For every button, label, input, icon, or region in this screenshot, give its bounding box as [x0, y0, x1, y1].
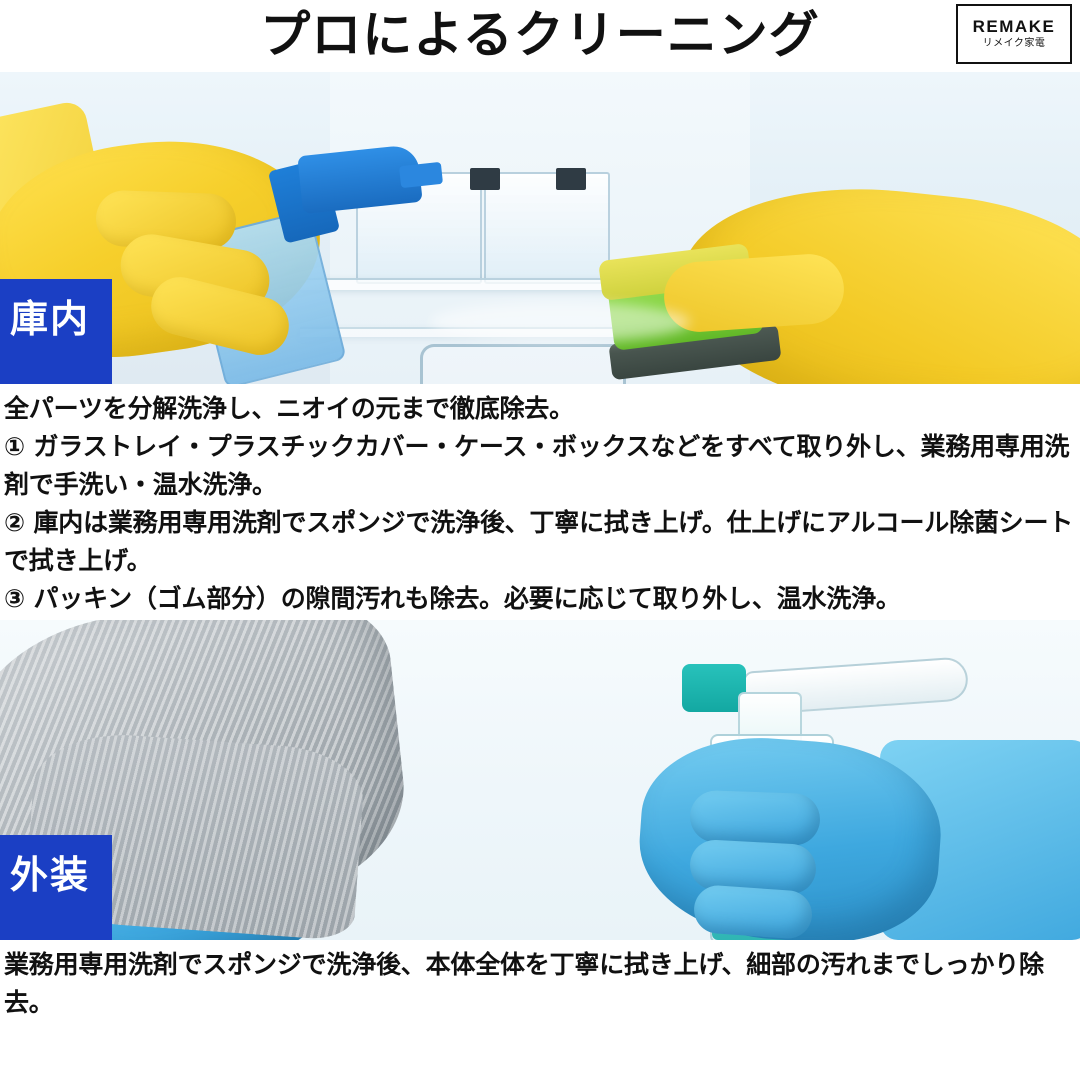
brand-logo-name: REMAKE [973, 17, 1056, 37]
fridge-vent-right [556, 168, 586, 190]
fridge-vent-left [470, 168, 500, 190]
section-1-photo: 庫内 [0, 72, 1080, 384]
fridge-interior-illustration [0, 72, 1080, 384]
shelf-glare [430, 302, 690, 342]
section-1-paragraph-0: 全パーツを分解洗浄し、ニオイの元まで徹底除去。 [4, 390, 1076, 428]
fridge-drawer-right [484, 172, 610, 284]
brand-logo: REMAKE リメイク家電 [956, 4, 1072, 64]
promo-page: プロによるクリーニング REMAKE リメイク家電 [0, 0, 1080, 1080]
section-2-badge: 外装 [0, 835, 112, 940]
section-2-paragraph-0: 業務用専用洗剤でスポンジで洗浄後、本体全体を丁寧に拭き上げ、細部の汚れまでしっか… [4, 946, 1076, 1022]
spray-bottle-nozzle [399, 162, 443, 188]
section-1-badge: 庫内 [0, 279, 112, 384]
brand-logo-tagline: リメイク家電 [983, 37, 1046, 51]
section-1-text: 全パーツを分解洗浄し、ニオイの元まで徹底除去。 ① ガラストレイ・プラスチックカ… [0, 384, 1080, 620]
fridge-wire-rack [420, 344, 626, 384]
section-1-paragraph-2: ② 庫内は業務用専用洗剤でスポンジで洗浄後、丁寧に拭き上げ。仕上げにアルコール除… [4, 504, 1076, 580]
page-title: プロによるクリーニング [0, 2, 1080, 68]
section-2-text: 業務用専用洗剤でスポンジで洗浄後、本体全体を丁寧に拭き上げ、細部の汚れまでしっか… [0, 940, 1080, 1024]
blue-glove-finger-top [689, 790, 821, 847]
exterior-wipe-illustration [0, 620, 1080, 940]
page-header: プロによるクリーニング REMAKE リメイク家電 [0, 0, 1080, 72]
section-2-photo: 外装 [0, 620, 1080, 940]
blue-glove-finger-bottom [692, 884, 813, 940]
section-1-paragraph-1: ① ガラストレイ・プラスチックカバー・ケース・ボックスなどをすべて取り外し、業務… [4, 428, 1076, 504]
spray-bottle-cap [682, 664, 746, 712]
section-1-paragraph-3: ③ パッキン（ゴム部分）の隙間汚れも除去。必要に応じて取り外し、温水洗浄。 [4, 580, 1076, 618]
